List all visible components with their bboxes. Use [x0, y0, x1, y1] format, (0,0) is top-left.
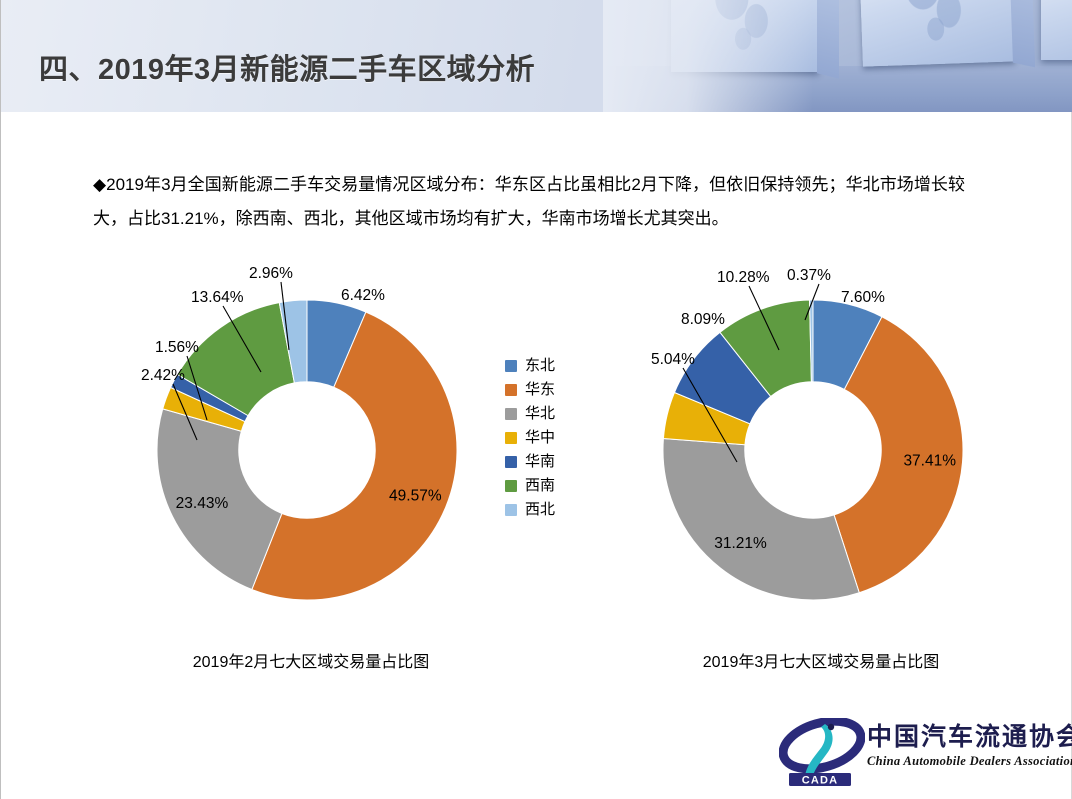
legend-item-label: 西北 [525, 502, 555, 517]
legend-item-西北[interactable]: 西北 [505, 502, 555, 517]
legend-item-label: 华北 [525, 406, 555, 421]
donut-chart-march-svg: 7.60%37.41%31.21%5.04%8.09%10.28%0.37% [637, 252, 997, 682]
pie-label-华南: 8.09% [681, 311, 725, 328]
pie-label-华东: 49.57% [389, 488, 442, 505]
donut-chart-february: 6.42%49.57%23.43%2.42%1.56%13.64%2.96% [131, 252, 491, 682]
cada-logo: CADA 中国汽车流通协会 China Automobile Dealers A… [779, 716, 1059, 790]
legend-item-label: 华东 [525, 382, 555, 397]
legend-swatch-icon [505, 504, 517, 516]
header-art-fade [603, 0, 813, 112]
pie-label-西北: 0.37% [787, 267, 831, 284]
legend-item-华东[interactable]: 华东 [505, 382, 555, 397]
legend-item-东北[interactable]: 东北 [505, 358, 555, 373]
globe-texture [1063, 0, 1072, 44]
pie-label-华中: 2.42% [141, 367, 185, 384]
pie-label-西南: 13.64% [191, 289, 244, 306]
pie-label-华中: 5.04% [651, 351, 695, 368]
legend-item-label: 西南 [525, 478, 555, 493]
legend-swatch-icon [505, 384, 517, 396]
legend-item-西南[interactable]: 西南 [505, 478, 555, 493]
pie-label-华北: 23.43% [176, 495, 229, 512]
pie-label-东北: 6.42% [341, 287, 385, 304]
cube-side [1009, 0, 1035, 67]
legend-swatch-icon [505, 408, 517, 420]
donut-chart-february-svg: 6.42%49.57%23.43%2.42%1.56%13.64%2.96% [131, 252, 491, 682]
cada-logo-text: 中国汽车流通协会 China Automobile Dealers Associ… [867, 722, 1059, 784]
chart-caption-march: 2019年3月七大区域交易量占比图 [641, 648, 1001, 672]
header-decorative-art [603, 0, 1072, 112]
header-banner: 四、2019年3月新能源二手车区域分析 [1, 0, 1072, 112]
header-cube-3 [1041, 0, 1072, 60]
legend-item-华中[interactable]: 华中 [505, 430, 555, 445]
cube-side [817, 0, 839, 79]
pie-label-华北: 31.21% [714, 535, 767, 552]
legend-item-华南[interactable]: 华南 [505, 454, 555, 469]
svg-text:CADA: CADA [802, 775, 839, 787]
legend-swatch-icon [505, 432, 517, 444]
legend-swatch-icon [505, 360, 517, 372]
legend-item-华北[interactable]: 华北 [505, 406, 555, 421]
chart-legend: 东北华东华北华中华南西南西北 [505, 358, 555, 517]
intro-paragraph: ◆2019年3月全国新能源二手车交易量情况区域分布：华东区占比虽相比2月下降，但… [93, 168, 965, 236]
donut-chart-march: 7.60%37.41%31.21%5.04%8.09%10.28%0.37% [637, 252, 997, 682]
pie-label-华南: 1.56% [155, 339, 199, 356]
pie-label-华东: 37.41% [903, 453, 956, 470]
globe-texture [887, 0, 987, 48]
page-title: 四、2019年3月新能源二手车区域分析 [39, 46, 535, 88]
pie-label-东北: 7.60% [841, 289, 885, 306]
cada-logo-chinese: 中国汽车流通协会 [867, 722, 1059, 752]
chart-caption-february: 2019年2月七大区域交易量占比图 [131, 648, 491, 672]
pie-label-西北: 2.96% [249, 265, 293, 282]
header-cube-2 [859, 0, 1015, 67]
legend-item-label: 华中 [525, 430, 555, 445]
pie-label-西南: 10.28% [717, 269, 770, 286]
legend-item-label: 华南 [525, 454, 555, 469]
pie-slice-华北[interactable] [663, 439, 859, 600]
legend-swatch-icon [505, 480, 517, 492]
cada-logo-mark-icon: CADA [779, 718, 865, 786]
legend-swatch-icon [505, 456, 517, 468]
cada-logo-english: China Automobile Dealers Association [867, 752, 1059, 770]
legend-item-label: 东北 [525, 358, 555, 373]
